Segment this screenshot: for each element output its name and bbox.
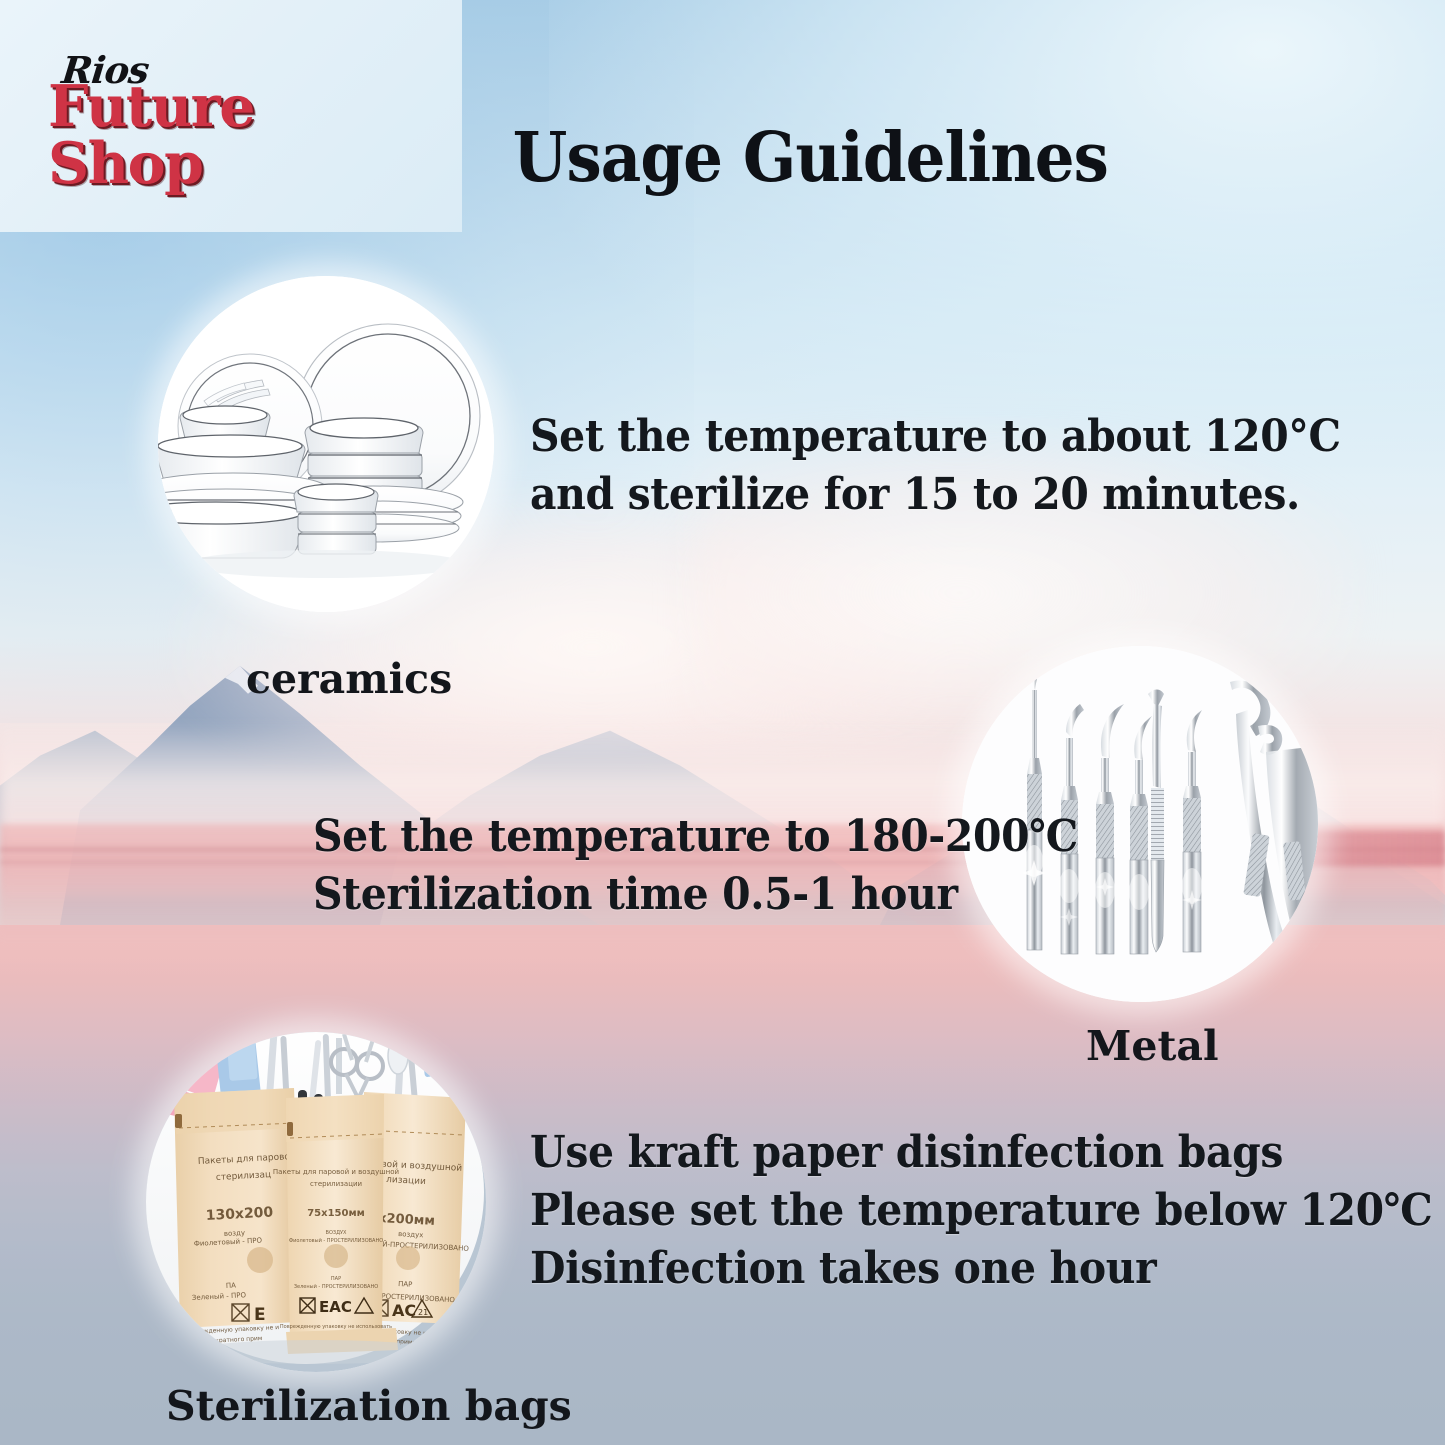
svg-text:x200мм: x200мм — [378, 1211, 435, 1229]
instruction-line: Please set the temperature below 120℃ — [530, 1182, 1432, 1240]
svg-text:ВОЗДУХ: ВОЗДУХ — [326, 1230, 348, 1236]
svg-text:ПАР: ПАР — [331, 1276, 341, 1282]
ceramics-photo — [158, 276, 494, 612]
sterilization-bags-photo: Пакеты для паровой и стерилизац 130x200 … — [146, 1032, 486, 1372]
svg-text:стерилизации: стерилизации — [310, 1180, 362, 1188]
instruction-block-bags: Use kraft paper disinfection bags Please… — [530, 1124, 1432, 1298]
svg-text:воздух: воздух — [398, 1230, 424, 1239]
instruction-line: Use kraft paper disinfection bags — [530, 1124, 1432, 1182]
instruction-line: Set the temperature to about 120°C — [530, 408, 1341, 466]
instruction-line: and sterilize for 15 to 20 minutes. — [530, 466, 1341, 524]
instruction-block-metal: Set the temperature to 180-200℃ Steriliz… — [313, 808, 1078, 924]
brand-logo: Rios Future Shop — [48, 52, 408, 192]
svg-text:Фиолетовый - ПРОСТЕРИЛИЗОВАНО: Фиолетовый - ПРОСТЕРИЛИЗОВАНО — [289, 1237, 383, 1244]
instruction-block-ceramics: Set the temperature to about 120°C and s… — [530, 408, 1341, 524]
instruction-line: Set the temperature to 180-200℃ — [313, 808, 1078, 866]
instruction-line: Sterilization time 0.5-1 hour — [313, 866, 1078, 924]
instruction-line: Disinfection takes one hour — [530, 1240, 1432, 1298]
infographic-canvas: Rios Future Shop Usage Guidelines — [0, 0, 1445, 1445]
svg-text:E: E — [254, 1305, 266, 1325]
svg-text:EAC: EAC — [319, 1298, 352, 1316]
caption-ceramics: ceramics — [246, 655, 452, 703]
svg-text:Зеленый - ПРОСТЕРИЛИЗОВАНО: Зеленый - ПРОСТЕРИЛИЗОВАНО — [294, 1283, 378, 1290]
svg-text:21: 21 — [418, 1308, 428, 1317]
caption-sterilization-bags: Sterilization bags — [166, 1382, 572, 1430]
brand-script-name: Rios — [60, 52, 410, 89]
brand-shop-name: Future Shop — [48, 78, 408, 192]
logo-panel: Rios Future Shop — [0, 0, 462, 232]
caption-metal: Metal — [1086, 1022, 1219, 1070]
svg-text:лизации: лизации — [386, 1175, 426, 1187]
svg-text:ПАР: ПАР — [398, 1280, 413, 1289]
svg-text:Пакеты для паровой и воздушной: Пакеты для паровой и воздушной — [273, 1168, 399, 1176]
page-title: Usage Guidelines — [470, 118, 1151, 198]
svg-text:75x150мм: 75x150мм — [307, 1208, 365, 1219]
svg-text:ПА: ПА — [226, 1281, 237, 1290]
